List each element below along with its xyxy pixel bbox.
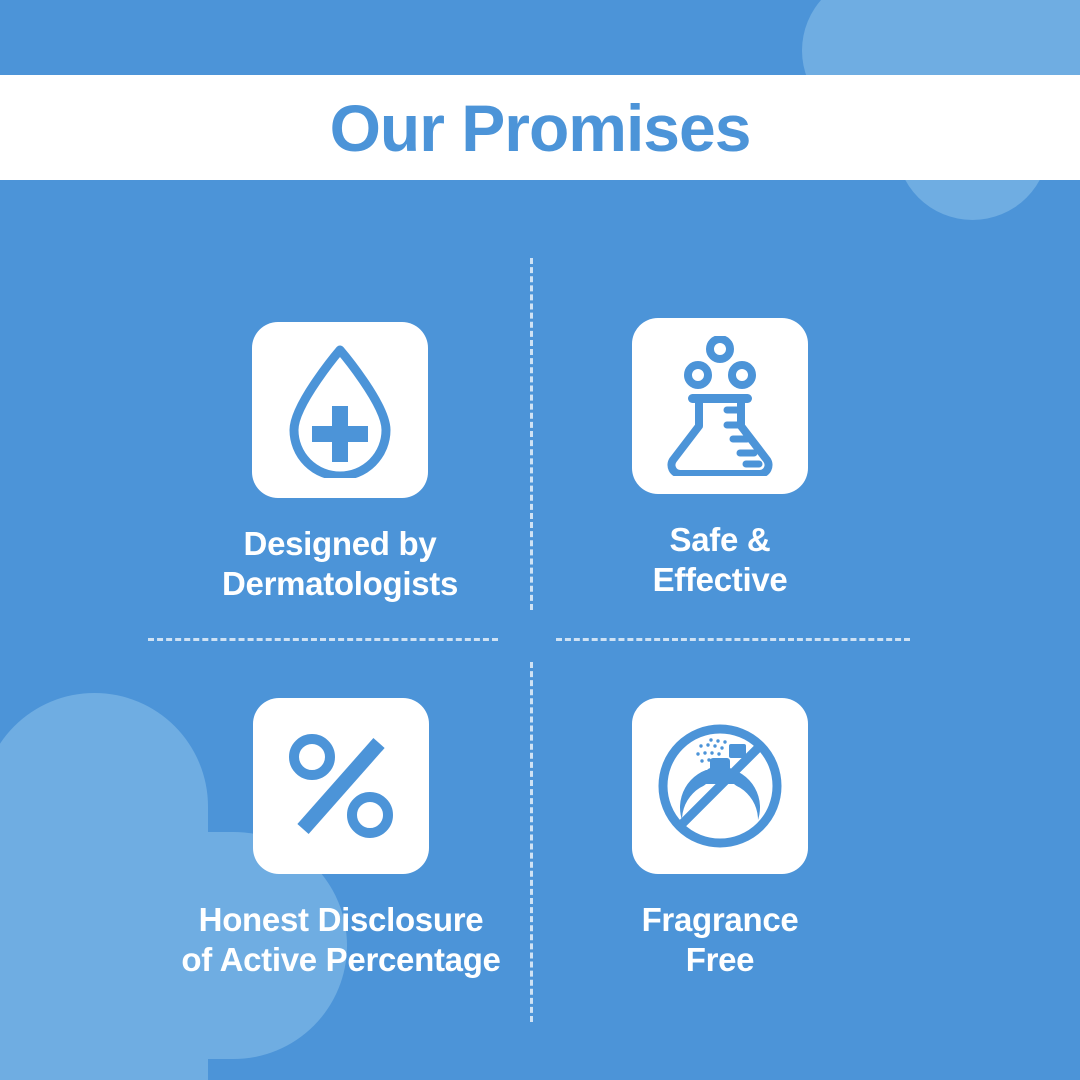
promise-grid: Designed by Dermatologists [0, 180, 1080, 1080]
icon-card [252, 322, 428, 498]
icon-card [253, 698, 429, 874]
promise-item-fragrance-free: Fragrance Free [480, 698, 960, 981]
flask-bubbles-icon [658, 336, 782, 476]
promise-item-safe-and-effective: Safe & Effective [480, 318, 960, 601]
percent-icon [285, 730, 397, 842]
promise-label: Safe & Effective [653, 520, 788, 601]
page-title: Our Promises [330, 95, 751, 161]
promise-label: Designed by Dermatologists [222, 524, 458, 605]
promise-label: Honest Disclosure of Active Percentage [181, 900, 500, 981]
promise-label: Fragrance Free [642, 900, 799, 981]
icon-card [632, 318, 808, 494]
droplet-plus-icon [278, 342, 402, 478]
no-fragrance-icon [656, 722, 784, 850]
header-band: Our Promises [0, 75, 1080, 180]
icon-card [632, 698, 808, 874]
promises-infographic: Our Promises Designed by Dermatologists [0, 0, 1080, 1080]
